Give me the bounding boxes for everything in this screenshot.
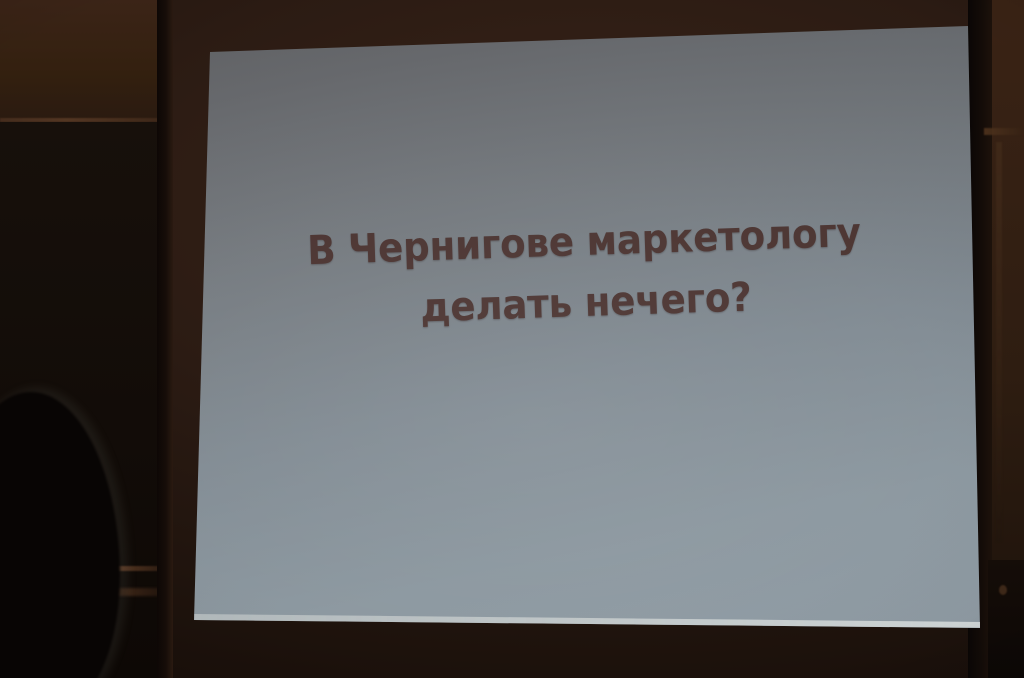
- photo-scene: В Чернигове маркетологу делать нечего?: [0, 0, 1024, 678]
- left-door-frame-strip: [157, 0, 173, 678]
- right-shelf-edge: [984, 128, 1024, 135]
- right-lower-panel: [988, 560, 1024, 678]
- right-door-knob: [999, 585, 1007, 595]
- right-door-edge: [996, 142, 1002, 542]
- left-wall-upper-band: [0, 0, 172, 122]
